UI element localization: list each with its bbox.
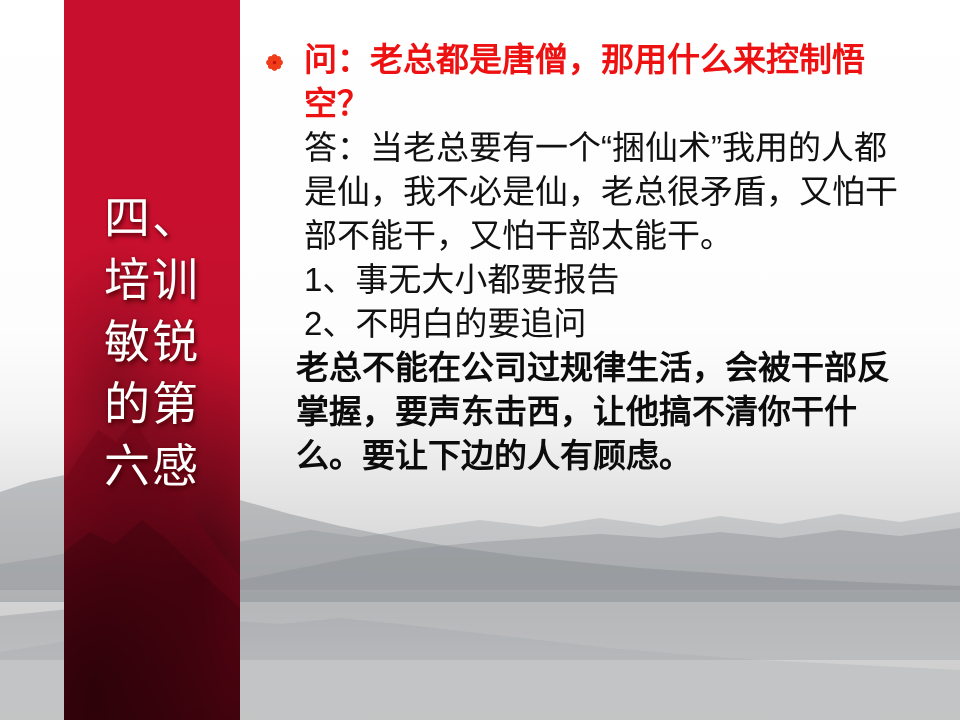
slide-canvas: 四、 培训 敏锐 的第 六感 [0, 0, 960, 720]
list-item: 2、不明白的要追问 [266, 302, 914, 346]
question-text: 问：老总都是唐僧，那用什么来控制悟空？ [304, 41, 865, 122]
answer-paragraph: 答：当老总要有一个“捆仙术”我用的人都是仙，我不必是仙，老总很矛盾，又怕干部不能… [266, 126, 914, 258]
content-body: 问：老总都是唐僧，那用什么来控制悟空？ 答：当老总要有一个“捆仙术”我用的人都是… [266, 38, 914, 478]
slide-title: 四、 培训 敏锐 的第 六感 [64, 188, 240, 498]
question-line: 问：老总都是唐僧，那用什么来控制悟空？ [266, 38, 914, 126]
list-item: 1、事无大小都要报告 [266, 258, 914, 302]
closing-paragraph: 老总不能在公司过规律生活，会被干部反掌握，要声东击西，让他搞不清你干什么。要让下… [266, 346, 914, 478]
flower-bullet-icon [266, 54, 283, 71]
title-banner: 四、 培训 敏锐 的第 六感 [64, 0, 240, 720]
